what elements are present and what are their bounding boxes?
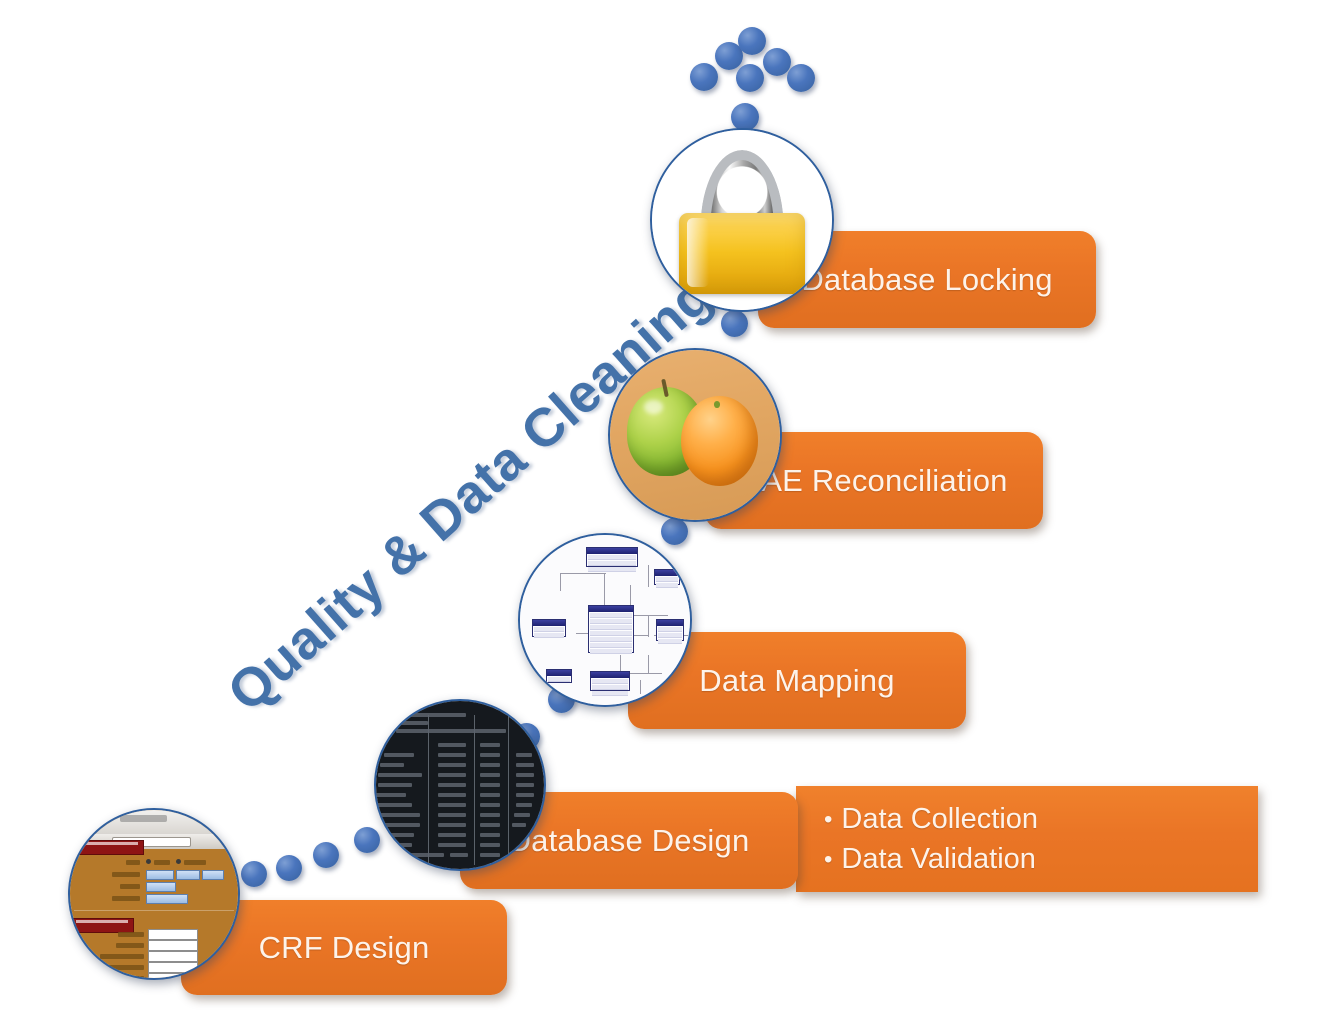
callout-bullet: Data Validation [824, 843, 1258, 875]
process-diagram-canvas: Quality & Data Cleaning Database Locking… [0, 0, 1334, 1023]
icon-circle-sae-reconciliation[interactable] [608, 348, 782, 522]
browser-title [120, 815, 167, 822]
terminal-sql-icon [376, 701, 544, 869]
icon-circle-data-mapping[interactable] [518, 533, 692, 707]
web-form-browser-icon [70, 810, 238, 978]
path-dot [721, 310, 748, 337]
arrow-dot [731, 103, 759, 131]
arrow-dot [763, 48, 791, 76]
er-table [590, 671, 630, 691]
arrow-dot [738, 27, 766, 55]
er-table [546, 669, 572, 683]
padlock-icon [652, 130, 832, 310]
icon-circle-database-design[interactable] [374, 699, 546, 871]
arrow-dot [787, 64, 815, 92]
icon-circle-crf-design[interactable] [68, 808, 240, 980]
label-database-design: Database Design [509, 823, 750, 859]
label-sae-reconciliation: SAE Reconciliation [740, 463, 1007, 499]
label-database-locking: Database Locking [801, 262, 1052, 298]
padlock-body [679, 213, 805, 294]
orange-fruit-icon [681, 396, 758, 486]
section-header-site-registration [72, 918, 134, 933]
apple-orange-icon [610, 350, 780, 520]
path-dot [241, 861, 267, 887]
er-table [532, 619, 566, 637]
callout-bullet: Data Collection [824, 803, 1258, 835]
label-data-mapping: Data Mapping [699, 663, 894, 699]
icon-circle-database-locking[interactable] [650, 128, 834, 312]
er-table [586, 547, 638, 567]
er-table [654, 569, 680, 585]
label-crf-design: CRF Design [259, 930, 430, 966]
path-dot [276, 855, 302, 881]
er-diagram-icon [520, 535, 690, 705]
arrow-dot [690, 63, 718, 91]
er-table [656, 619, 684, 641]
callout-plate-data-collection-validation[interactable]: Data Collection Data Validation [796, 786, 1258, 892]
path-dot [313, 842, 339, 868]
er-table [588, 605, 634, 653]
arrow-dot [736, 64, 764, 92]
section-header-personal-information [76, 840, 144, 855]
browser-chrome [70, 810, 238, 835]
